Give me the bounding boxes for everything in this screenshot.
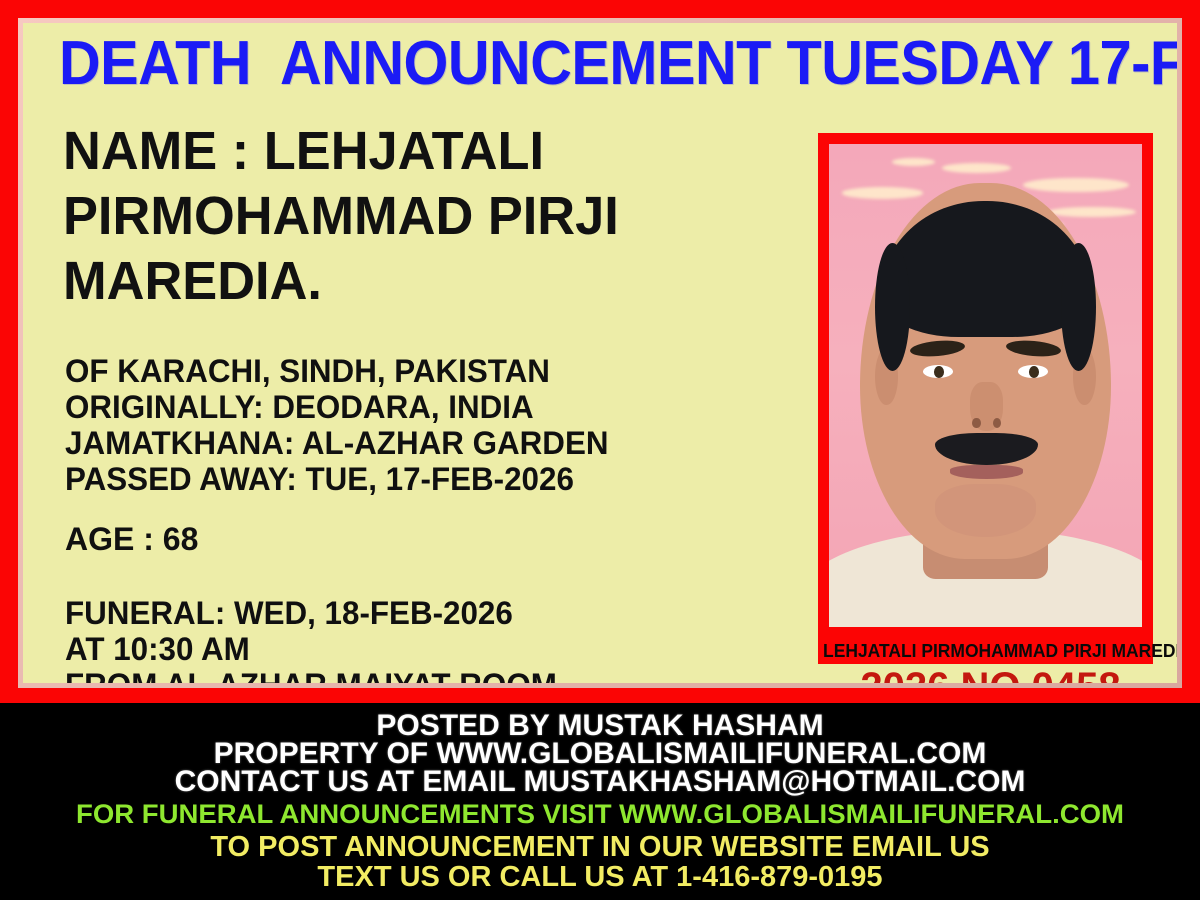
eye-right — [1018, 365, 1048, 378]
photo-caption: LEHJATALI PIRMOHAMMAD PIRJI MAREDIA — [823, 640, 1148, 662]
footer-announcements-site: FOR FUNERAL ANNOUNCEMENTS VISIT WWW.GLOB… — [0, 799, 1200, 830]
cloud-icon — [1023, 178, 1129, 192]
portrait-photo — [829, 144, 1142, 627]
cloud-icon — [942, 163, 1011, 173]
death-announcement-poster: DEATH ANNOUNCEMENT TUESDAY 17-FEB-2026 N… — [0, 0, 1200, 900]
name-line-1: NAME : LEHJATALI — [63, 119, 781, 184]
footer: POSTED BY MUSTAK HASHAM PROPERTY OF WWW.… — [0, 703, 1200, 900]
funeral-time: AT 10:30 AM — [65, 631, 790, 667]
footer-post-email: TO POST ANNOUNCEMENT IN OUR WEBSITE EMAI… — [0, 831, 1200, 864]
cloud-icon — [842, 187, 923, 199]
detail-jamatkhana: JAMATKHANA: AL-AZHAR GARDEN — [65, 425, 790, 461]
name-line-3: MAREDIA. — [63, 249, 781, 314]
eyebrow-right — [1005, 338, 1061, 358]
name-line-2: PIRMOHAMMAD PIRJI — [63, 184, 781, 249]
nostril-right — [993, 418, 1001, 429]
detail-passed-away: PASSED AWAY: TUE, 17-FEB-2026 — [65, 461, 790, 497]
eyebrow-left — [910, 338, 966, 358]
pupil-left — [934, 366, 944, 378]
nose — [970, 382, 1003, 431]
cloud-icon — [892, 158, 936, 166]
hair-side-right — [1061, 243, 1096, 371]
pupil-right — [1029, 366, 1039, 378]
footer-phone: TEXT US OR CALL US AT 1-416-879-0195 — [0, 861, 1200, 894]
funeral-details: FUNERAL: WED, 18-FEB-2026 AT 10:30 AM FR… — [65, 595, 790, 683]
announcement-card: DEATH ANNOUNCEMENT TUESDAY 17-FEB-2026 N… — [23, 23, 1177, 683]
portrait-frame — [818, 133, 1153, 638]
funeral-location: FROM AL-AZHAR MAIYAT ROOM — [65, 667, 790, 683]
detail-residence: OF KARACHI, SINDH, PAKISTAN — [65, 353, 790, 389]
deceased-details: OF KARACHI, SINDH, PAKISTAN ORIGINALLY: … — [65, 353, 790, 497]
nostril-left — [972, 418, 980, 429]
hair — [880, 201, 1090, 337]
face — [860, 183, 1110, 560]
eye-left — [923, 365, 953, 378]
chin — [935, 484, 1035, 537]
page-title: DEATH ANNOUNCEMENT TUESDAY 17-FEB-2026 — [59, 27, 1073, 101]
mouth — [950, 465, 1023, 479]
detail-origin: ORIGINALLY: DEODARA, INDIA — [65, 389, 790, 425]
cloud-icon — [1048, 207, 1136, 218]
mustache — [935, 433, 1038, 465]
hair-side-left — [875, 243, 910, 371]
footer-contact-email: CONTACT US AT EMAIL MUSTAKHASHAM@HOTMAIL… — [0, 765, 1200, 799]
deceased-name: NAME : LEHJATALI PIRMOHAMMAD PIRJI MARED… — [63, 119, 781, 314]
reference-number: 2026 NO.0458 — [818, 664, 1163, 683]
funeral-date: FUNERAL: WED, 18-FEB-2026 — [65, 595, 790, 631]
age-line: AGE : 68 — [65, 521, 198, 557]
